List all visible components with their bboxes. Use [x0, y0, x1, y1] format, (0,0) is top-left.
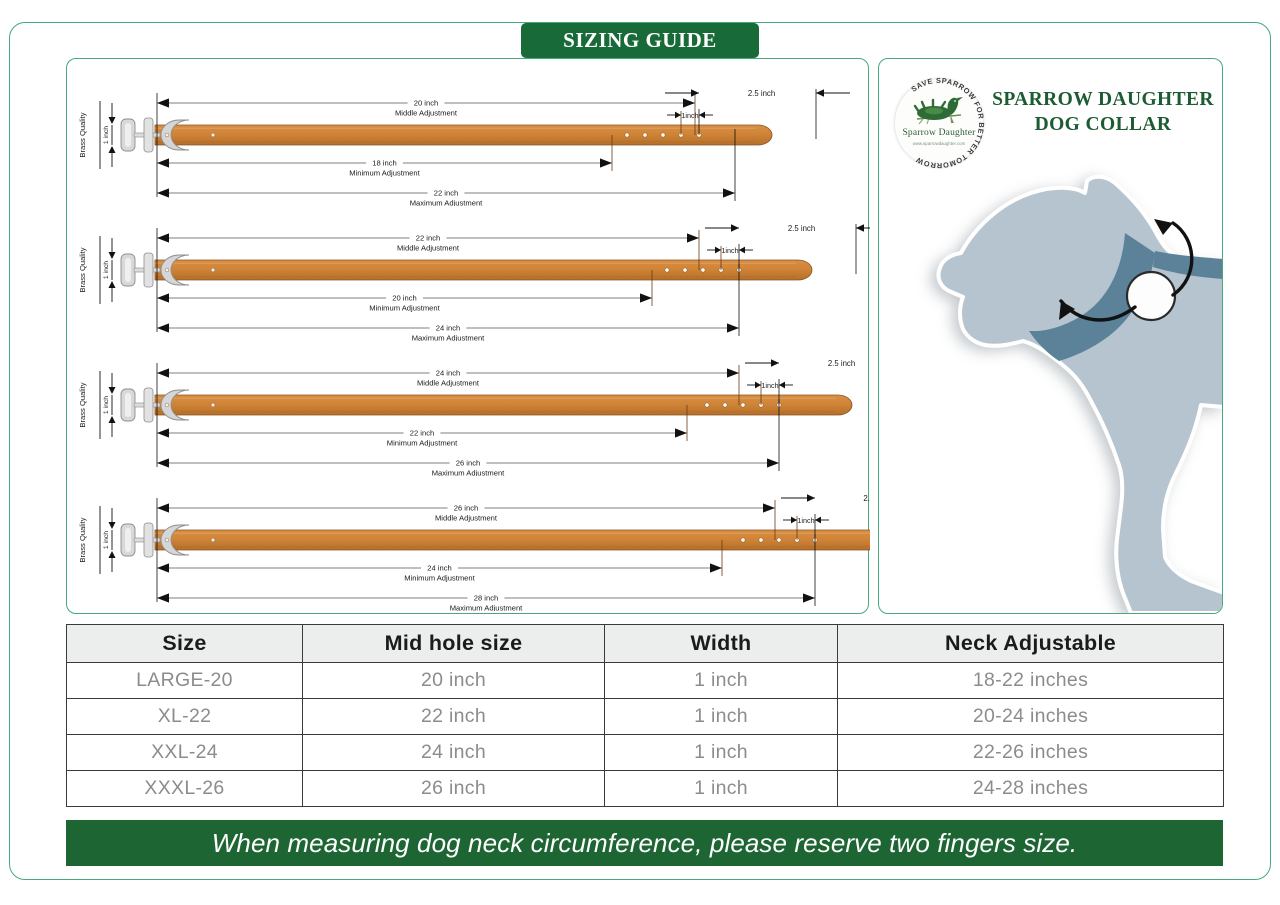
- logo-url: www.sparrowdaughter.com: [889, 141, 989, 146]
- belt-diagram-2: Brass Quality1 inch22 inchMiddle Adjustm…: [67, 206, 870, 341]
- table-cell: 24 inch: [303, 735, 605, 771]
- brass-quality-label: Brass Quality: [78, 517, 87, 562]
- hole-spacing-label: 1inch: [797, 516, 814, 525]
- tip-length-label: 2.5 inch: [828, 359, 855, 368]
- belt-width-label: 1 inch: [103, 261, 110, 279]
- belt-diagrams-panel: Brass Quality1 inch20 inchMiddle Adjustm…: [66, 58, 869, 614]
- sparrow-nest-icon: [913, 93, 965, 127]
- sizing-guide-title-banner: SIZING GUIDE: [521, 23, 759, 58]
- belt-diagram-svg: Brass Quality1 inch26 inchMiddle Adjustm…: [67, 476, 870, 611]
- page-title: SIZING GUIDE: [563, 28, 717, 53]
- footer-note-banner: When measuring dog neck circumference, p…: [66, 820, 1223, 866]
- hole-spacing-label: 1inch: [681, 111, 698, 120]
- maximum-adjustment-value: 28 inch: [474, 594, 499, 603]
- table-row: XXL-2424 inch1 inch22-26 inches: [67, 735, 1224, 771]
- minimum-adjustment-caption: Minimum Adjustment: [369, 304, 440, 313]
- table-cell: 20-24 inches: [838, 699, 1224, 735]
- table-body: LARGE-2020 inch1 inch18-22 inchesXL-2222…: [67, 663, 1224, 807]
- table-row: LARGE-2020 inch1 inch18-22 inches: [67, 663, 1224, 699]
- hole-spacing-label: 1inch: [761, 381, 778, 390]
- belt-width-label: 1 inch: [103, 126, 110, 144]
- dog-illustration: [879, 157, 1223, 613]
- tip-length-label: 2.5 inch: [863, 494, 870, 503]
- maximum-adjustment-value: 26 inch: [456, 459, 481, 468]
- maximum-adjustment-caption: Maximum Adjustment: [450, 604, 523, 612]
- brass-quality-label: Brass Quality: [78, 112, 87, 157]
- table-cell: 26 inch: [303, 771, 605, 807]
- table-cell: 20 inch: [303, 663, 605, 699]
- maximum-adjustment-value: 24 inch: [436, 324, 461, 333]
- column-header-neck-adjustable: Neck Adjustable: [838, 625, 1224, 663]
- table-cell: 1 inch: [605, 699, 838, 735]
- table-cell: 22 inch: [303, 699, 605, 735]
- brand-title: SPARROW DAUGHTER DOG COLLAR: [987, 87, 1219, 137]
- brand-title-line1: SPARROW DAUGHTER: [987, 87, 1219, 112]
- middle-adjustment-caption: Middle Adjustment: [435, 514, 498, 523]
- middle-adjustment-value: 24 inch: [436, 369, 461, 378]
- table-cell: XXL-24: [67, 735, 303, 771]
- belt-diagram-3: Brass Quality1 inch24 inchMiddle Adjustm…: [67, 341, 870, 476]
- minimum-adjustment-caption: Minimum Adjustment: [387, 439, 458, 448]
- maximum-adjustment-caption: Maximum Adjustment: [412, 334, 485, 342]
- table-cell: XXXL-26: [67, 771, 303, 807]
- middle-adjustment-value: 26 inch: [454, 504, 479, 513]
- minimum-adjustment-value: 22 inch: [410, 429, 435, 438]
- table-cell: 18-22 inches: [838, 663, 1224, 699]
- table-row: XL-2222 inch1 inch20-24 inches: [67, 699, 1224, 735]
- belt-diagram-4: Brass Quality1 inch26 inchMiddle Adjustm…: [67, 476, 870, 611]
- brass-quality-label: Brass Quality: [78, 247, 87, 292]
- table-cell: 24-28 inches: [838, 771, 1224, 807]
- middle-adjustment-caption: Middle Adjustment: [397, 244, 460, 253]
- tip-length-label: 2.5 inch: [748, 89, 775, 98]
- footer-note-text: When measuring dog neck circumference, p…: [212, 828, 1078, 859]
- maximum-adjustment-value: 22 inch: [434, 189, 459, 198]
- table-cell: LARGE-20: [67, 663, 303, 699]
- brass-quality-label: Brass Quality: [78, 382, 87, 427]
- belt-diagram-svg: Brass Quality1 inch24 inchMiddle Adjustm…: [67, 341, 870, 476]
- belt-diagram-svg: Brass Quality1 inch22 inchMiddle Adjustm…: [67, 206, 870, 341]
- middle-adjustment-caption: Middle Adjustment: [417, 379, 480, 388]
- table-cell: XL-22: [67, 699, 303, 735]
- belt-diagram-1: Brass Quality1 inch20 inchMiddle Adjustm…: [67, 71, 870, 206]
- table-cell: 22-26 inches: [838, 735, 1224, 771]
- minimum-adjustment-caption: Minimum Adjustment: [404, 574, 475, 583]
- column-header-width: Width: [605, 625, 838, 663]
- table-cell: 1 inch: [605, 735, 838, 771]
- middle-adjustment-value: 20 inch: [414, 99, 439, 108]
- minimum-adjustment-caption: Minimum Adjustment: [349, 169, 420, 178]
- belt-width-label: 1 inch: [103, 531, 110, 549]
- middle-adjustment-value: 22 inch: [416, 234, 441, 243]
- brand-panel: SAVE SPARROW FOR BETTER TOMORROW Sparrow…: [878, 58, 1223, 614]
- table-cell: 1 inch: [605, 663, 838, 699]
- table-cell: 1 inch: [605, 771, 838, 807]
- logo-brand-name: Sparrow Daughter: [889, 128, 989, 138]
- table-row: XXXL-2626 inch1 inch24-28 inches: [67, 771, 1224, 807]
- belt-diagram-svg: Brass Quality1 inch20 inchMiddle Adjustm…: [67, 71, 870, 206]
- minimum-adjustment-value: 24 inch: [427, 564, 452, 573]
- middle-adjustment-caption: Middle Adjustment: [395, 109, 458, 118]
- belt-width-label: 1 inch: [103, 396, 110, 414]
- minimum-adjustment-value: 20 inch: [392, 294, 417, 303]
- minimum-adjustment-value: 18 inch: [372, 159, 397, 168]
- hole-spacing-label: 1inch: [721, 246, 738, 255]
- table-header-row: Size Mid hole size Width Neck Adjustable: [67, 625, 1224, 663]
- size-table: Size Mid hole size Width Neck Adjustable…: [66, 624, 1224, 807]
- tip-length-label: 2.5 inch: [788, 224, 815, 233]
- column-header-mid-hole-size: Mid hole size: [303, 625, 605, 663]
- column-header-size: Size: [67, 625, 303, 663]
- brand-title-line2: DOG COLLAR: [987, 112, 1219, 137]
- maximum-adjustment-caption: Maximum Adjustment: [410, 199, 483, 207]
- maximum-adjustment-caption: Maximum Adjustment: [432, 469, 505, 477]
